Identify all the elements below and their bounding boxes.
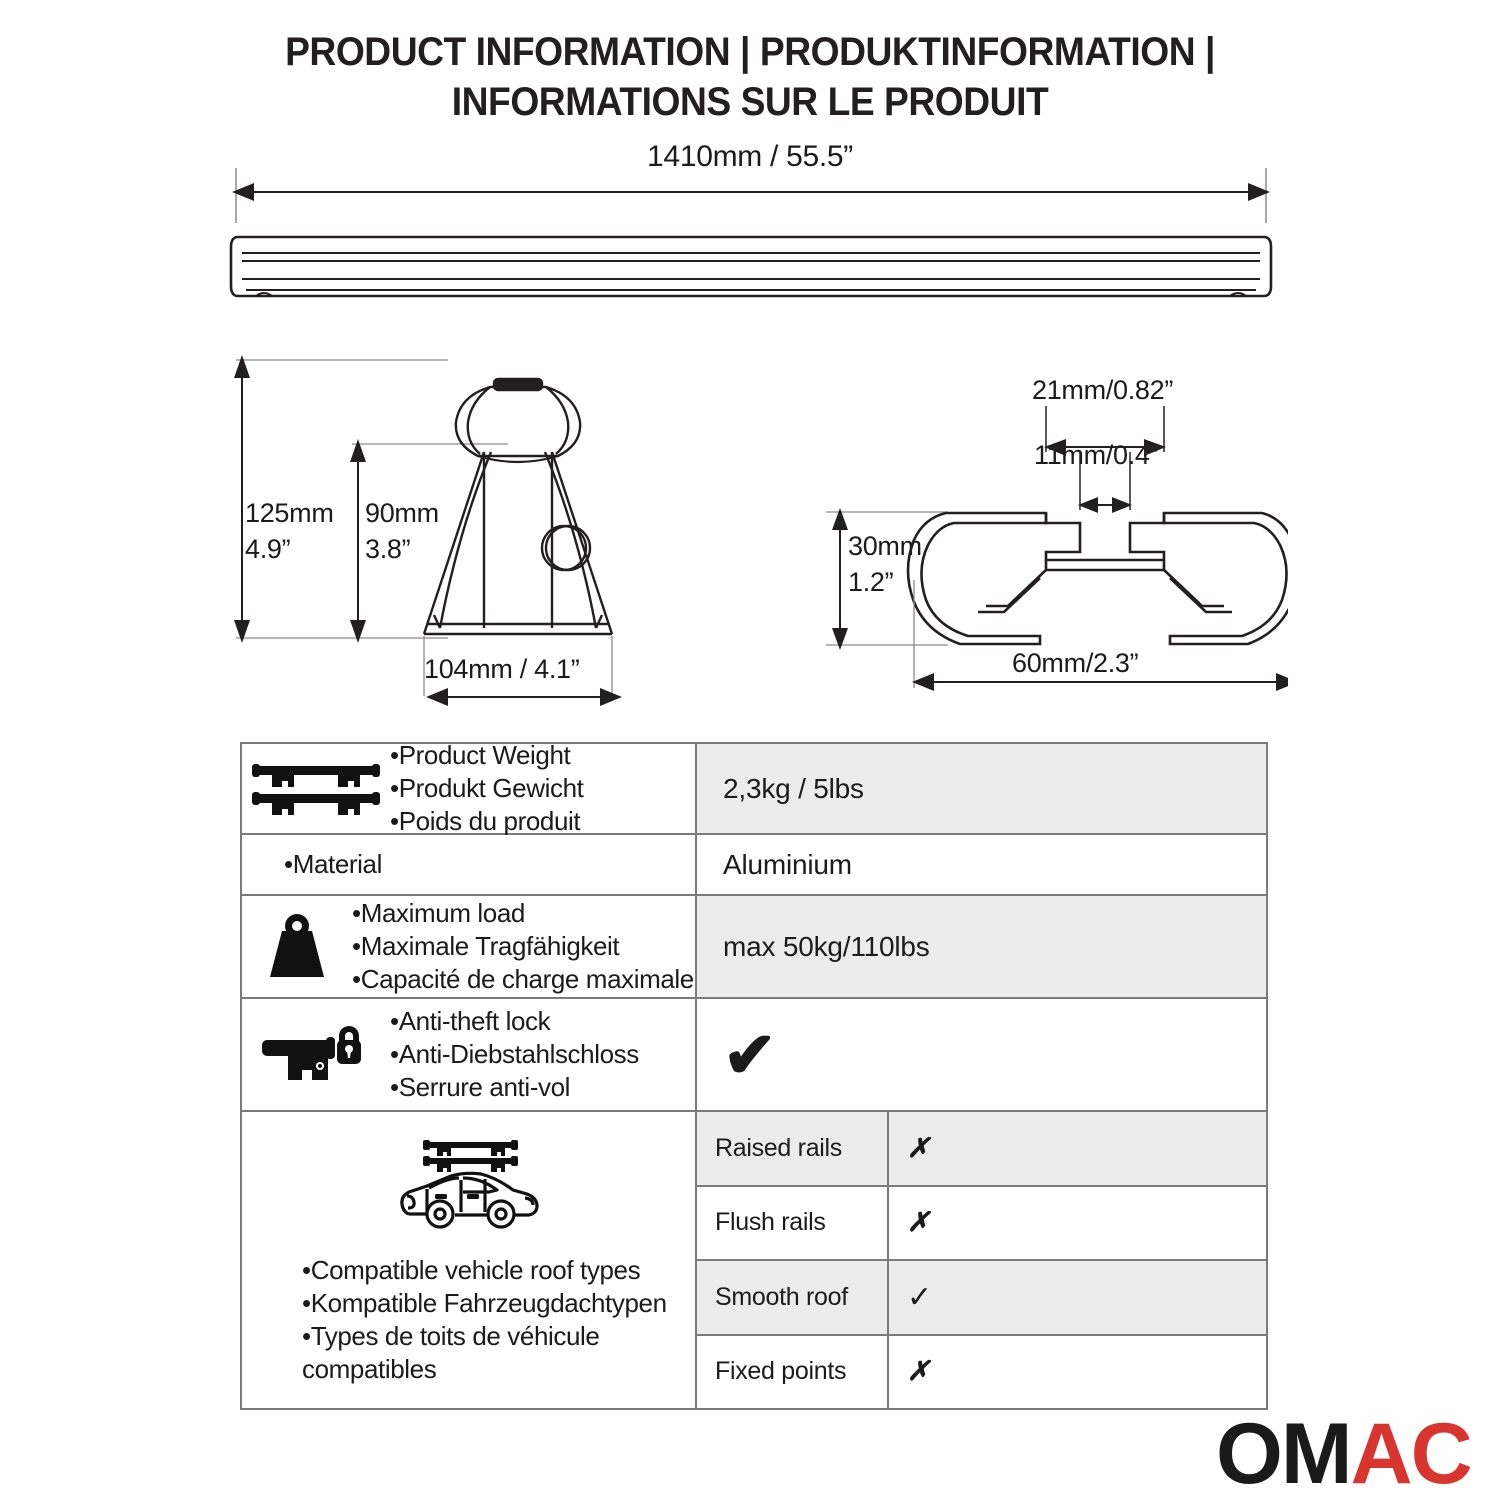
table-row: •Anti-theft lock •Anti-Diebstahlschloss … [242, 999, 1266, 1112]
roof-types-matrix: Raised rails ✗ Flush rails ✗ Smooth roof… [697, 1112, 1266, 1408]
table-row: •Material Aluminium [242, 835, 1266, 896]
spec-label-cell: •Material [242, 835, 697, 894]
cross-icon: ✗ [907, 1133, 930, 1164]
spec-label-cell: •Maximum load •Maximale Tragfähigkeit •C… [242, 896, 697, 997]
car-with-roof-bars-icon [393, 1134, 545, 1238]
tower-inner-height-in: 3.8” [365, 531, 439, 567]
spec-label-line: •Maximale Tragfähigkeit [352, 930, 694, 963]
roof-type-name: Raised rails [697, 1112, 889, 1185]
spec-label-line: •Product Weight [390, 739, 583, 772]
tower-total-height-mm: 125mm [245, 495, 334, 531]
roof-type-value: ✗ [889, 1336, 1266, 1409]
product-information-sheet: PRODUCT INFORMATION | PRODUKTINFORMATION… [0, 0, 1500, 1500]
check-icon: ✓ [907, 1280, 932, 1315]
bar-length-diagram [228, 168, 1274, 308]
spec-label-line: •Anti-theft lock [390, 1005, 639, 1038]
spec-label-text: Anti-theft lock [399, 1006, 551, 1036]
roof-types-label-cell: •Compatible vehicle roof types •Kompatib… [242, 1112, 697, 1408]
table-row: •Compatible vehicle roof types •Kompatib… [242, 1112, 1266, 1408]
table-row: •Maximum load •Maximale Tragfähigkeit •C… [242, 896, 1266, 999]
spec-label-line: •Poids du produit [390, 805, 583, 838]
roof-bars-icon [242, 760, 390, 818]
spec-label-text: Serrure anti-vol [399, 1072, 570, 1102]
product-weight-value: 2,3kg / 5lbs [723, 773, 864, 805]
spec-label-list: •Anti-theft lock •Anti-Diebstahlschloss … [390, 1005, 641, 1104]
roof-types-label-line: compatibles [302, 1353, 681, 1386]
page-title: PRODUCT INFORMATION | PRODUKTINFORMATION… [53, 28, 1448, 127]
specification-table: •Product Weight •Produkt Gewicht •Poids … [240, 742, 1268, 1410]
logo-text-red: AC [1351, 1411, 1471, 1497]
spec-label-cell: •Product Weight •Produkt Gewicht •Poids … [242, 744, 697, 833]
roof-type-name: Flush rails [697, 1187, 889, 1260]
spec-label-cell: •Anti-theft lock •Anti-Diebstahlschloss … [242, 999, 697, 1110]
spec-label-text: Anti-Diebstahlschloss [399, 1039, 639, 1069]
spec-value-cell: max 50kg/110lbs [697, 896, 1266, 997]
tower-inner-height-label: 90mm 3.8” [365, 495, 439, 568]
roof-type-value: ✗ [889, 1112, 1266, 1185]
roof-types-label-text: compatibles [302, 1354, 436, 1384]
omac-logo: OMAC [1216, 1418, 1471, 1490]
roof-types-label-list: •Compatible vehicle roof types •Kompatib… [254, 1254, 683, 1386]
spec-label-list: •Maximum load •Maximale Tragfähigkeit •C… [352, 897, 696, 996]
max-load-value: max 50kg/110lbs [723, 931, 930, 963]
spec-label-text: Maximale Tragfähigkeit [361, 931, 620, 961]
anti-theft-check-icon: ✔ [723, 1023, 776, 1087]
roof-type-name: Fixed points [697, 1336, 889, 1409]
spec-value-cell: ✔ [697, 999, 1266, 1110]
profile-cross-section-diagram [818, 400, 1288, 700]
table-row: •Product Weight •Produkt Gewicht •Poids … [242, 744, 1266, 835]
spec-value-cell: Aluminium [697, 835, 1266, 894]
roof-type-name: Smooth roof [697, 1261, 889, 1334]
roof-types-label-text: Compatible vehicle roof types [311, 1255, 640, 1285]
spec-label-text: Capacité de charge maximale [361, 964, 694, 994]
material-value: Aluminium [723, 849, 852, 881]
spec-label-text: Material [293, 849, 382, 879]
spec-label-line: •Anti-Diebstahlschloss [390, 1038, 639, 1071]
roof-types-label-line: •Compatible vehicle roof types [302, 1254, 681, 1287]
roof-type-row: Raised rails ✗ [697, 1112, 1266, 1187]
spec-label-list: •Product Weight •Produkt Gewicht •Poids … [390, 739, 585, 838]
weight-icon [242, 913, 352, 981]
spec-label-line: •Serrure anti-vol [390, 1071, 639, 1104]
roof-type-row: Flush rails ✗ [697, 1187, 1266, 1262]
roof-type-value: ✗ [889, 1187, 1266, 1260]
roof-types-label-line: •Types de toits de véhicule [302, 1320, 681, 1353]
spec-value-cell: 2,3kg / 5lbs [697, 744, 1266, 833]
tower-inner-height-mm: 90mm [365, 495, 439, 531]
spec-label-line: •Capacité de charge maximale [352, 963, 694, 996]
roof-type-row: Fixed points ✗ [697, 1336, 1266, 1409]
lock-icon [242, 1022, 390, 1088]
roof-types-label-line: •Kompatible Fahrzeugdachtypen [302, 1287, 681, 1320]
spec-label-list: •Material [242, 848, 384, 881]
title-line-1: PRODUCT INFORMATION | PRODUKTINFORMATION… [53, 28, 1448, 78]
spec-label-text: Maximum load [361, 898, 525, 928]
cross-icon: ✗ [907, 1356, 930, 1387]
roof-type-row: Smooth roof ✓ [697, 1261, 1266, 1336]
spec-label-line: •Material [284, 848, 382, 881]
tower-total-height-in: 4.9” [245, 531, 334, 567]
spec-label-text: Product Weight [399, 740, 571, 770]
spec-label-line: •Maximum load [352, 897, 694, 930]
tower-width-label: 104mm / 4.1” [424, 654, 579, 685]
roof-type-value: ✓ [889, 1261, 1266, 1334]
cross-icon: ✗ [907, 1207, 930, 1238]
title-line-2: INFORMATIONS SUR LE PRODUIT [53, 78, 1448, 128]
tower-width-arrow [424, 684, 624, 710]
spec-label-text: Produkt Gewicht [399, 773, 584, 803]
roof-types-label-text: Types de toits de véhicule [311, 1321, 600, 1351]
logo-text-black: OM [1216, 1411, 1351, 1497]
roof-types-label-text: Kompatible Fahrzeugdachtypen [311, 1288, 667, 1318]
tower-total-height-label: 125mm 4.9” [245, 495, 334, 568]
spec-label-line: •Produkt Gewicht [390, 772, 583, 805]
spec-label-text: Poids du produit [399, 806, 581, 836]
